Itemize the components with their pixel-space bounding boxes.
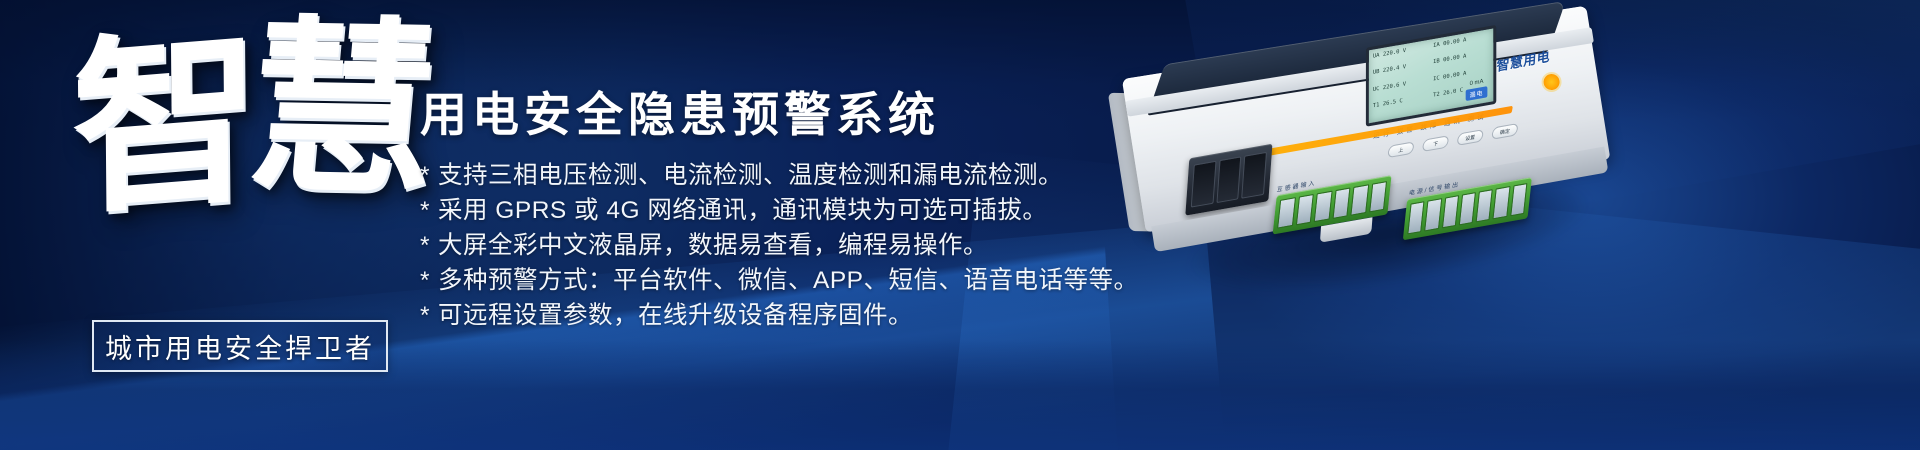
slogan-text: 城市用电安全捍卫者 <box>105 327 375 366</box>
terminal-screw <box>1493 186 1510 219</box>
lcd-readout-grid: UA 220.0 V IA 00.00 A UB 220.4 V IB 00.0… <box>1373 33 1490 118</box>
calligraphy-char-2: 慧 <box>241 14 439 205</box>
bullet-marker-icon: * <box>420 158 438 193</box>
bullet-marker-icon: * <box>420 263 438 298</box>
terminal-screw <box>1314 191 1332 223</box>
list-item-text: 多种预警方式：平台软件、微信、APP、短信、语音电话等等。 <box>438 263 1139 298</box>
connector-pin <box>1216 156 1241 203</box>
terminal-screw <box>1510 183 1527 216</box>
calligraphy-char-1: 智 <box>71 23 255 225</box>
banner-root: 智慧 城市用电安全捍卫者 用电安全隐患预警系统 * 支持三相电压检测、电流检测、… <box>0 0 1920 450</box>
slogan-box: 城市用电安全捍卫者 <box>92 320 388 372</box>
terminal-screw <box>1295 194 1313 226</box>
connector-pin <box>1191 161 1216 208</box>
connector-pin <box>1242 152 1267 199</box>
list-item-text: 采用 GPRS 或 4G 网络通讯，通讯模块为可选可插拔。 <box>438 193 1047 228</box>
terminal-screw <box>1476 189 1493 222</box>
bullet-marker-icon: * <box>420 228 438 263</box>
product-key[interactable]: 下 <box>1422 135 1450 152</box>
calligraphy-logo: 智慧 <box>63 17 436 316</box>
list-item-text: 大屏全彩中文液晶屏，数据易查看，编程易操作。 <box>438 228 988 263</box>
terminal-screw <box>1369 181 1387 213</box>
bullet-marker-icon: * <box>420 193 438 228</box>
bullet-marker-icon: * <box>420 298 438 333</box>
terminal-screw <box>1277 197 1295 229</box>
product-key[interactable]: 上 <box>1387 141 1415 158</box>
product-key[interactable]: 确定 <box>1491 123 1519 140</box>
terminal-screw <box>1332 187 1350 219</box>
product-key[interactable]: 设置 <box>1456 129 1484 146</box>
list-item-text: 可远程设置参数，在线升级设备程序固件。 <box>438 298 913 333</box>
terminal-screw <box>1459 192 1476 225</box>
list-item-text: 支持三相电压检测、电流检测、温度检测和漏电流检测。 <box>438 158 1063 193</box>
terminal-screw <box>1442 195 1459 228</box>
terminal-screw <box>1424 198 1441 231</box>
terminal-screw <box>1407 201 1424 234</box>
terminal-screw <box>1350 184 1368 216</box>
